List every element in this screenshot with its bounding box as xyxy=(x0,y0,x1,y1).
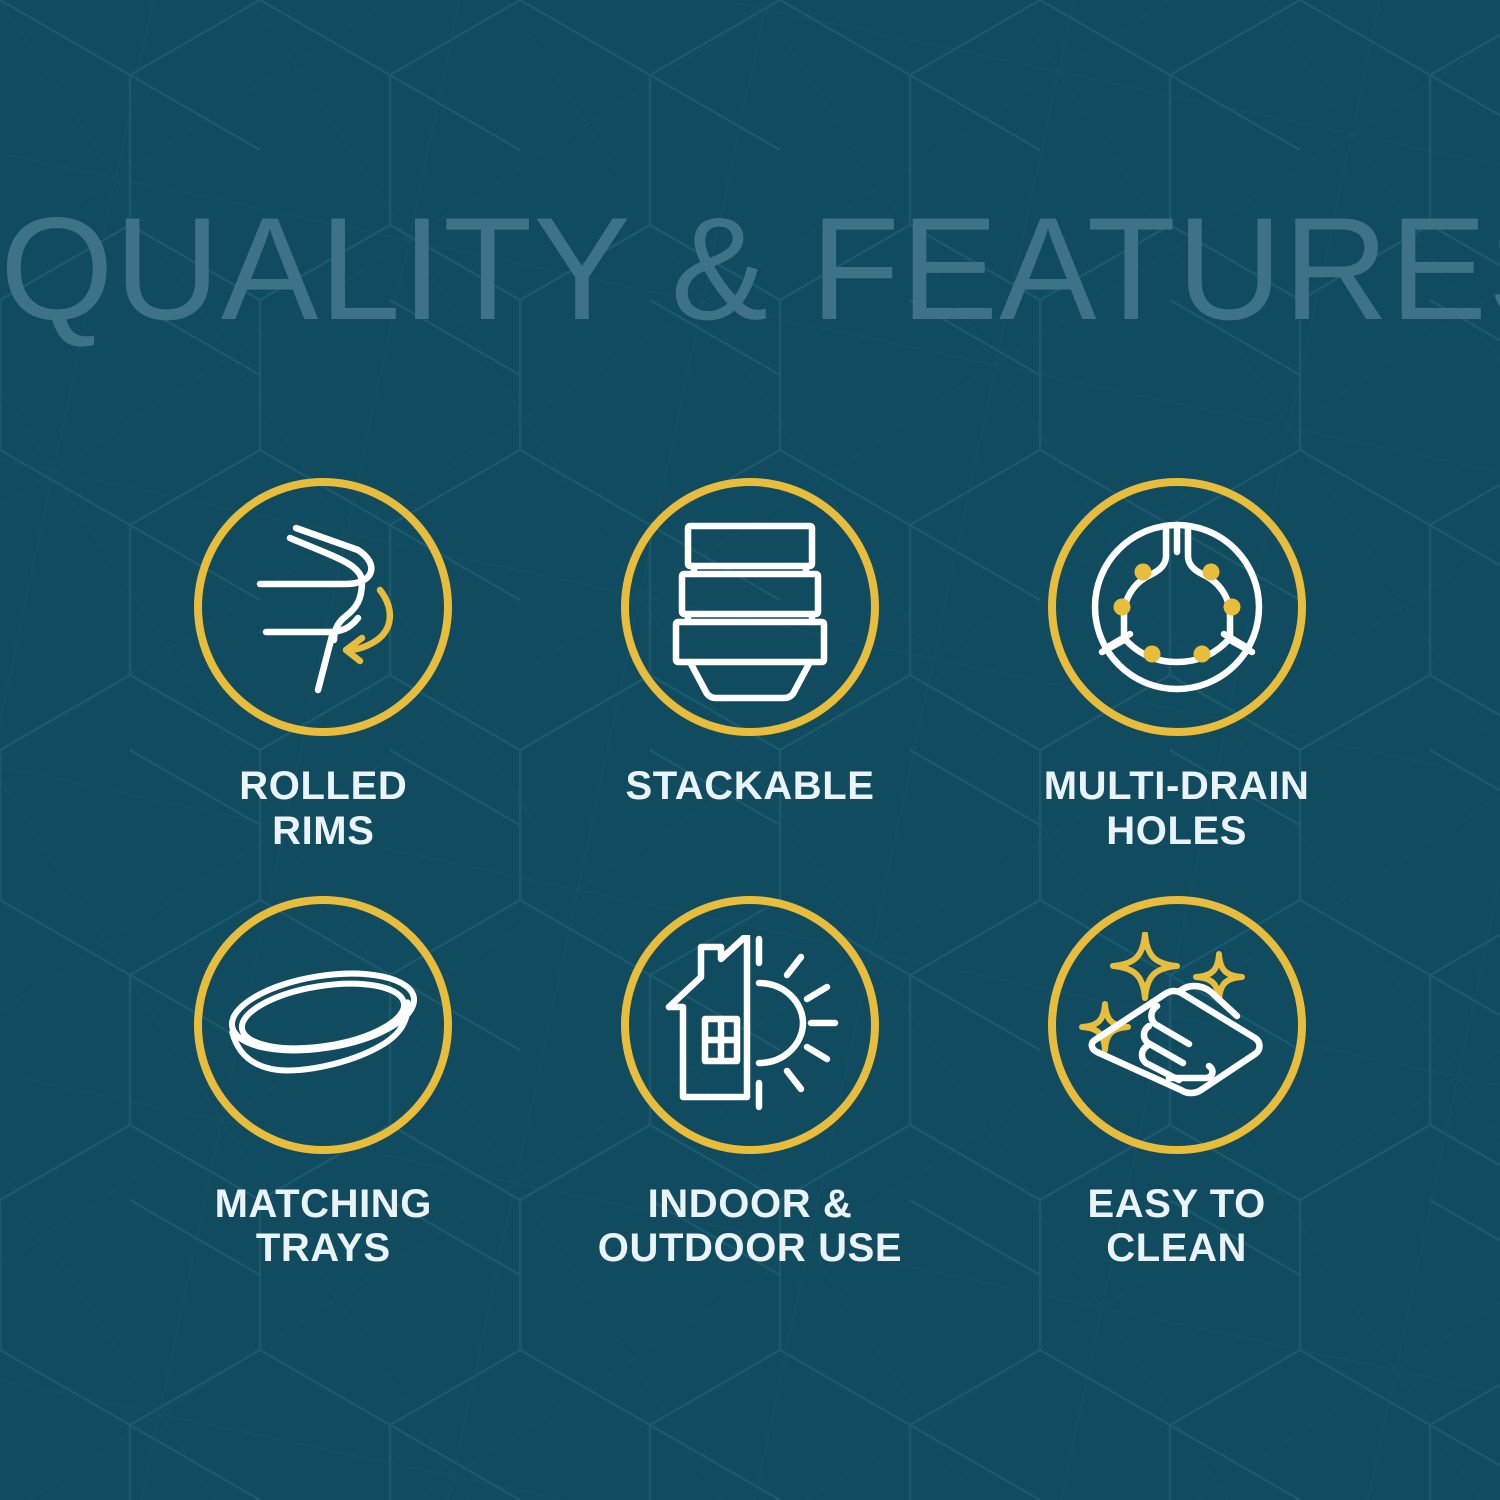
pot-base-drain-holes-icon xyxy=(1082,512,1272,702)
feature-card-matching-trays[interactable]: MATCHINGTRAYS xyxy=(110,896,537,1272)
feature-label-line-1: ROLLED xyxy=(239,764,407,808)
feature-label-line-2: HOLES xyxy=(1106,809,1247,853)
icon-ring xyxy=(1048,896,1306,1154)
feature-label-line-1: INDOOR & xyxy=(648,1182,853,1226)
saucer-tray-icon xyxy=(223,950,423,1100)
feature-label: EASY TOCLEAN xyxy=(1087,1182,1265,1272)
icon-ring xyxy=(194,478,452,736)
feature-card-indoor-outdoor-use[interactable]: INDOOR &OUTDOOR USE xyxy=(537,896,964,1272)
page-title: QUALITY & FEATURES xyxy=(0,196,1500,342)
icon-ring xyxy=(621,478,879,736)
rolled-rim-icon xyxy=(228,512,418,702)
icon-ring xyxy=(194,896,452,1154)
feature-label-line-2: OUTDOOR USE xyxy=(598,1226,902,1270)
icon-ring xyxy=(1048,478,1306,736)
feature-label-line-1: EASY TO xyxy=(1087,1182,1265,1226)
feature-label-line-1: MULTI-DRAIN xyxy=(1044,764,1310,808)
feature-card-easy-to-clean[interactable]: EASY TOCLEAN xyxy=(963,896,1390,1272)
feature-label-line-2: TRAYS xyxy=(256,1226,391,1270)
feature-label: MATCHINGTRAYS xyxy=(215,1182,432,1272)
feature-card-rolled-rims[interactable]: ROLLEDRIMS xyxy=(110,478,537,854)
infographic-canvas: QUALITY & FEATURES ROL xyxy=(0,0,1500,1500)
feature-label: STACKABLE xyxy=(625,764,874,809)
stacked-pots-icon xyxy=(660,512,840,702)
feature-card-stackable[interactable]: STACKABLE xyxy=(537,478,964,854)
feature-label: MULTI-DRAINHOLES xyxy=(1044,764,1310,854)
feature-grid: ROLLEDRIMS STACKABLE xyxy=(110,478,1390,1271)
hand-wiping-sparkle-icon xyxy=(1079,932,1274,1117)
feature-label: ROLLEDRIMS xyxy=(239,764,407,854)
feature-label-line-1: MATCHING xyxy=(215,1182,432,1226)
feature-label: INDOOR &OUTDOOR USE xyxy=(598,1182,902,1272)
feature-label-line-1: STACKABLE xyxy=(625,764,874,808)
house-and-sun-icon xyxy=(655,935,845,1115)
feature-label-line-2: CLEAN xyxy=(1106,1226,1247,1270)
feature-label-line-2: RIMS xyxy=(272,809,374,853)
icon-ring xyxy=(621,896,879,1154)
feature-card-multi-drain-holes[interactable]: MULTI-DRAINHOLES xyxy=(963,478,1390,854)
